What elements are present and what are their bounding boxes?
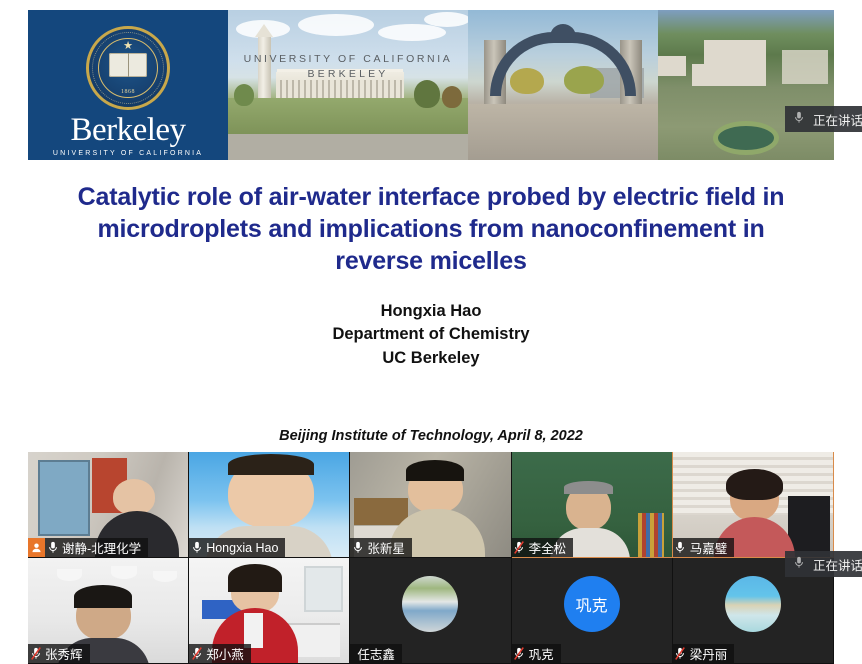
participant-tile[interactable]: 任志鑫 xyxy=(350,558,511,664)
participant-tile[interactable]: 郑小燕 xyxy=(189,558,350,664)
participant-nameplate: 梁丹丽 xyxy=(673,644,735,663)
microphone-icon xyxy=(673,541,688,554)
author-department: Department of Chemistry xyxy=(28,323,834,346)
participant-name: 谢静-北理化学 xyxy=(60,538,141,557)
berkeley-logo-panel: ★ 1868 Berkeley UNIVERSITY OF CALIFORNIA xyxy=(28,10,228,160)
campanile-campus-photo: UNIVERSITY OF CALIFORNIA BERKELEY xyxy=(228,10,468,160)
participant-nameplate: Hongxia Hao xyxy=(189,538,285,557)
slide-content: Catalytic role of air-water interface pr… xyxy=(28,160,834,450)
aerial-campus-photo xyxy=(658,10,834,160)
berkeley-wordmark-subtitle: UNIVERSITY OF CALIFORNIA xyxy=(28,150,228,157)
speaking-indicator-label: 正在讲话 xyxy=(813,555,862,574)
participant-nameplate: 谢静-北理化学 xyxy=(28,538,148,557)
avatar xyxy=(725,576,781,632)
microphone-muted-icon xyxy=(512,647,527,660)
participant-nameplate: 马嘉璧 xyxy=(673,538,735,557)
participant-name: 张秀辉 xyxy=(43,644,83,663)
participant-tile[interactable]: 巩克巩克 xyxy=(512,558,673,664)
host-icon xyxy=(28,538,45,557)
participant-name: 梁丹丽 xyxy=(688,644,728,663)
microphone-icon xyxy=(45,541,60,554)
participant-tile[interactable]: Hongxia Hao xyxy=(189,452,350,558)
microphone-muted-icon xyxy=(28,647,43,660)
sather-gate-photo xyxy=(468,10,658,160)
participant-tile[interactable]: 马嘉璧 xyxy=(673,452,834,558)
author-institution: UC Berkeley xyxy=(28,347,834,370)
slide-title: Catalytic role of air-water interface pr… xyxy=(68,182,794,277)
participant-name: 任志鑫 xyxy=(355,644,395,663)
speaking-indicator-label: 正在讲话 xyxy=(813,110,862,129)
participant-tile[interactable]: 李全松 xyxy=(512,452,673,558)
participant-nameplate: 张新星 xyxy=(350,538,412,557)
speaking-indicator-grid: 正在讲话 xyxy=(785,551,862,577)
microphone-icon xyxy=(794,111,804,127)
avatar xyxy=(402,576,458,632)
campus-overlay-line2: BERKELEY xyxy=(228,68,468,80)
participant-tile[interactable]: 张秀辉 xyxy=(28,558,189,664)
avatar: 巩克 xyxy=(564,576,620,632)
participant-nameplate: 郑小燕 xyxy=(189,644,251,663)
microphone-muted-icon xyxy=(189,647,204,660)
slide-venue: Beijing Institute of Technology, April 8… xyxy=(28,428,834,444)
participant-name: 郑小燕 xyxy=(204,644,244,663)
microphone-icon xyxy=(794,556,804,572)
berkeley-wordmark: Berkeley xyxy=(28,114,228,147)
microphone-icon xyxy=(350,541,365,554)
participant-name: 李全松 xyxy=(527,538,567,557)
microphone-muted-icon xyxy=(673,647,688,660)
seal-year-label: 1868 xyxy=(121,89,135,95)
shared-screen-slide[interactable]: ★ 1868 Berkeley UNIVERSITY OF CALIFORNIA xyxy=(28,10,834,450)
participant-name: 巩克 xyxy=(527,644,554,663)
participant-name: Hongxia Hao xyxy=(204,541,278,555)
participant-tile[interactable]: 谢静-北理化学 xyxy=(28,452,189,558)
slide-author-block: Hongxia Hao Department of Chemistry UC B… xyxy=(28,300,834,370)
uc-seal-icon: ★ 1868 xyxy=(86,26,170,110)
participant-name: 张新星 xyxy=(365,538,405,557)
participant-nameplate: 李全松 xyxy=(512,538,574,557)
participant-tile[interactable]: 张新星 xyxy=(350,452,511,558)
speaking-indicator-overlay: 正在讲话 xyxy=(785,106,862,132)
microphone-icon xyxy=(189,541,204,554)
campus-overlay-line1: UNIVERSITY OF CALIFORNIA xyxy=(228,53,468,65)
microphone-muted-icon xyxy=(512,541,527,554)
participant-nameplate: 巩克 xyxy=(512,644,561,663)
slide-banner: ★ 1868 Berkeley UNIVERSITY OF CALIFORNIA xyxy=(28,10,834,160)
zoom-meeting-window: ★ 1868 Berkeley UNIVERSITY OF CALIFORNIA xyxy=(0,0,862,664)
participant-video-grid: 谢静-北理化学Hongxia Hao张新星李全松马嘉璧张秀辉郑小燕任志鑫巩克巩克… xyxy=(28,452,834,664)
participant-nameplate: 张秀辉 xyxy=(28,644,90,663)
author-name: Hongxia Hao xyxy=(28,300,834,323)
participant-nameplate: 任志鑫 xyxy=(350,644,402,663)
participant-name: 马嘉璧 xyxy=(688,538,728,557)
